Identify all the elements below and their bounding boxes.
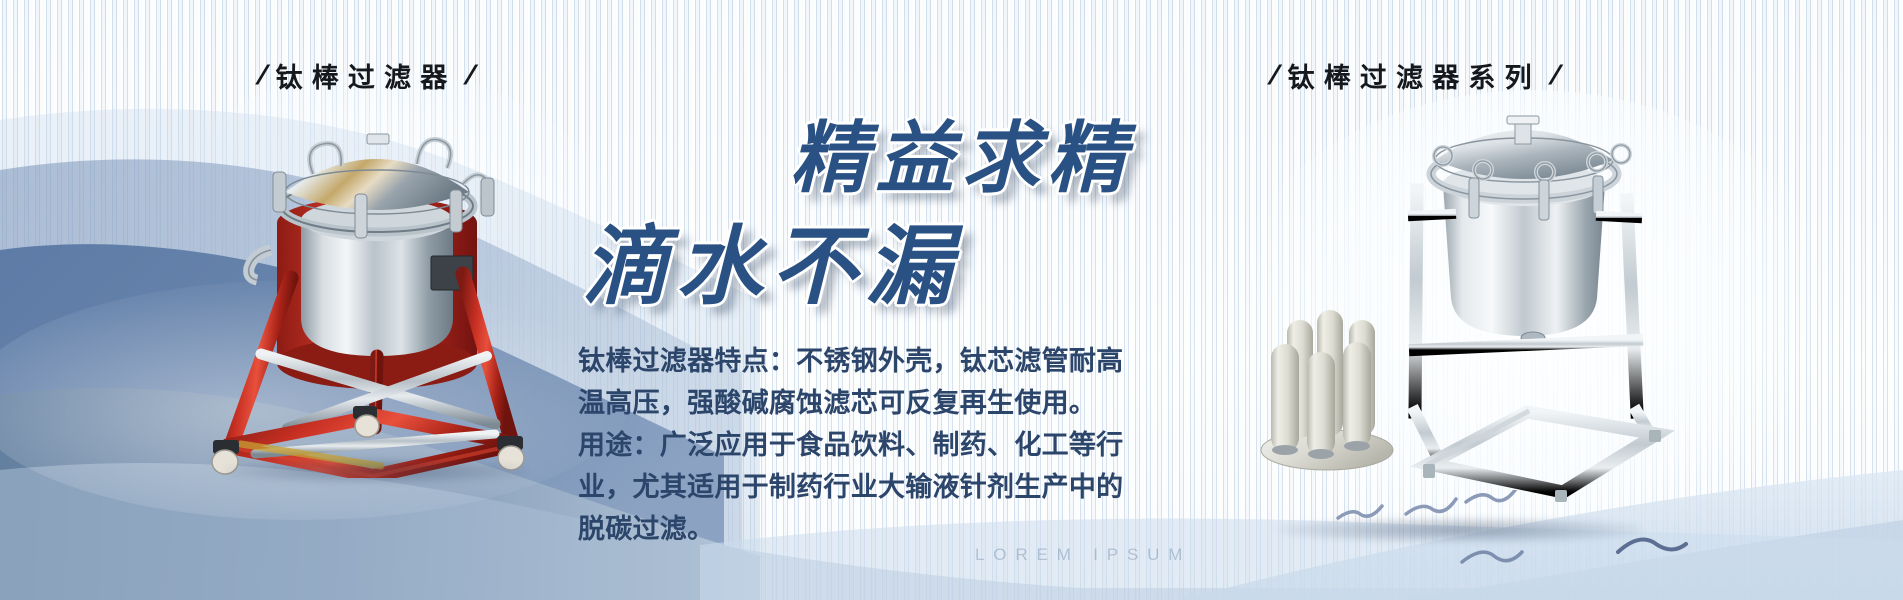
slash-left-end-icon: / [463,60,477,91]
product-right-shadow [1279,517,1640,543]
tag-right: / 钛棒过滤器系列 / [1270,56,1558,95]
slash-right-end-icon: / [1547,60,1561,91]
product-left-shadow [224,458,526,484]
description-line-3: 用途：广泛应用于食品饮料、制药、化工等行 [578,424,1218,466]
description-line-4: 业，尤其适用于制药行业大输液针剂生产中的 [578,466,1218,508]
tag-left: / 钛棒过滤器 / [258,56,474,95]
description-line-1: 钛棒过滤器特点：不锈钢外壳，钛芯滤管耐高 [578,340,1218,382]
product-image-left [195,128,555,478]
watermark-text: LOREM IPSUM [975,545,1191,565]
description-line-5: 脱碳过滤。 [578,508,1218,550]
tag-right-label: 钛棒过滤器系列 [1288,56,1541,95]
description-line-2: 温高压，强酸碱腐蚀滤芯可反复再生使用。 [578,382,1218,424]
slash-left-icon: / [255,60,269,91]
slogan-line-1: 精益求精 [790,96,1133,208]
tag-left-label: 钛棒过滤器 [276,56,457,95]
product-image-right [1245,112,1675,537]
product-banner: / 钛棒过滤器 / / 钛棒过滤器系列 / 精益求精 滴水不漏 钛棒过滤器特点：… [0,0,1903,600]
slogan-line-2: 滴水不漏 [582,196,960,321]
slash-right-icon: / [1267,60,1281,91]
description-block: 钛棒过滤器特点：不锈钢外壳，钛芯滤管耐高 温高压，强酸碱腐蚀滤芯可反复再生使用。… [578,340,1218,550]
